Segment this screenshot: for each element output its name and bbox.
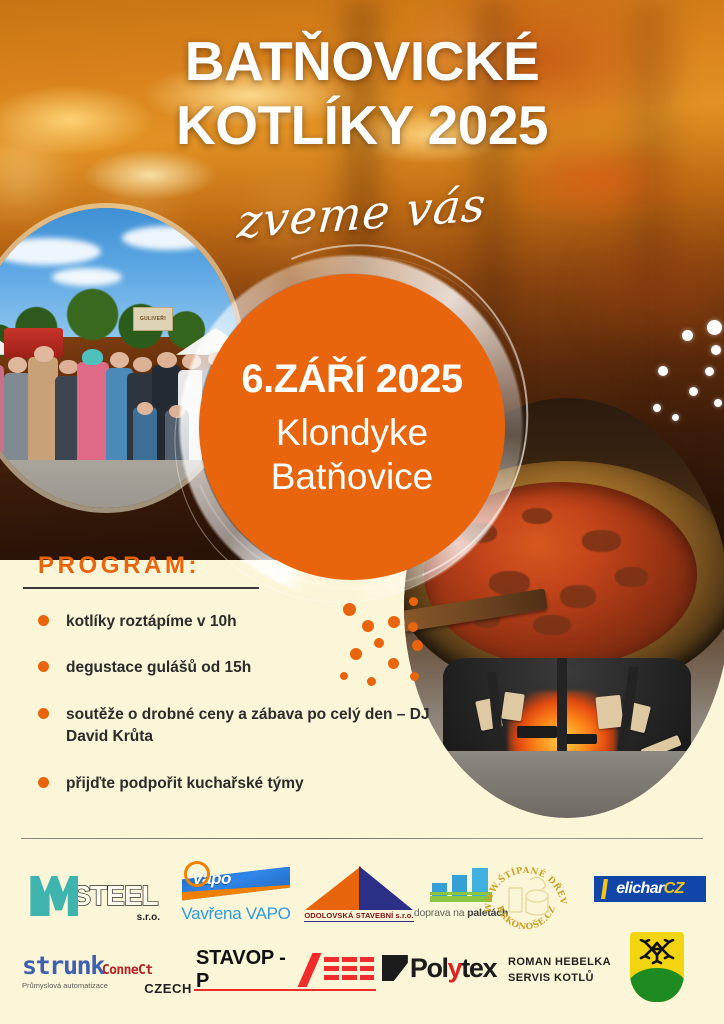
- event-date: 6.ZÁŘÍ 2025: [241, 359, 462, 399]
- nm-steel-wordmark: STEEL: [72, 880, 157, 912]
- strunk-wordmark-row: strunk ConneCt: [22, 951, 153, 980]
- sponsor-logo-melichar-cz: elicharCZ: [592, 874, 708, 904]
- sponsor-logo-polytex: Polytex: [372, 948, 506, 988]
- sponsor-logo-vapo: Vapo Vavřena VAPO: [176, 864, 296, 926]
- decorative-dot-icon: [711, 345, 721, 355]
- sponsor-logo-strunk-connect: strunk ConneCt Průmyslová automatizace C…: [22, 944, 192, 1002]
- polytex-wordmark: Polytex: [410, 953, 496, 984]
- photo-cloud: [0, 238, 101, 265]
- drevo-arc-text-icon: WWW.ŠTÍPANÉ DŘEVO KRKONOŠE.CZ: [482, 858, 570, 946]
- vapo-ring-icon: [184, 861, 210, 887]
- program-item-text: kotlíky roztápíme v 10h: [66, 613, 237, 630]
- program-item-text: přijďte podpořit kuchařské týmy: [66, 775, 304, 792]
- odolovska-triangle-orange: [305, 866, 361, 910]
- decorative-dot-icon: [705, 367, 714, 376]
- decorative-dot-icon: [658, 366, 668, 376]
- stavop-wordmark: STAVOP - P: [196, 947, 294, 993]
- date-badge: 6.ZÁŘÍ 2025 Klondyke Batňovice: [199, 274, 505, 580]
- sponsors-divider: [21, 838, 703, 839]
- hebelka-line-2: SERVIS KOTLŮ: [508, 970, 594, 987]
- crest-green-mound: [630, 968, 684, 1002]
- svg-text:WWW.ŠTÍPANÉ DŘEVO: WWW.ŠTÍPANÉ DŘEVO: [482, 858, 568, 914]
- decorative-dot-icon: [689, 387, 698, 396]
- drevo-circular-badge-icon: WWW.ŠTÍPANÉ DŘEVO KRKONOŠE.CZ: [482, 858, 570, 946]
- bullet-icon: [38, 661, 49, 672]
- program-list: kotlíky roztápíme v 10h degustace gulášů…: [38, 611, 438, 795]
- page-title: BATŇOVICKÉ KOTLÍKY 2025: [0, 34, 724, 153]
- strunk-subline: Průmyslová automatizace CZECH: [22, 981, 192, 996]
- sponsor-logo-stavop-p: STAVOP - P: [196, 948, 368, 992]
- polytex-mark-icon: [382, 955, 408, 981]
- program-item-text: degustace gulášů od 15h: [66, 659, 251, 676]
- crest-antler-icon: [639, 939, 675, 965]
- sponsor-logo-batnovice-coat-of-arms: [628, 930, 686, 1004]
- venue-line-2: Batňovice: [271, 455, 434, 499]
- strunk-connect-wordmark: ConneCt: [102, 963, 153, 978]
- title-line-2: KOTLÍKY 2025: [0, 98, 724, 152]
- stavop-slash-icon: [298, 953, 322, 987]
- stavop-baseline: [194, 989, 376, 991]
- sponsor-logo-nm-steel: STEEL s.r.o.: [24, 870, 164, 922]
- odolovska-caption: ODOLOVSKÁ STAVEBNÍ s.r.o.: [304, 911, 413, 922]
- strunk-wordmark: strunk: [22, 951, 104, 980]
- photo-cloud: [122, 226, 213, 250]
- bullet-icon: [38, 615, 49, 626]
- hebelka-line-1: ROMAN HEBELKA: [508, 954, 611, 971]
- strunk-czech-label: CZECH: [144, 981, 192, 996]
- program-item: soutěže o drobné ceny a zábava po celý d…: [38, 704, 438, 749]
- program-section: PROGRAM: kotlíky roztápíme v 10h degusta…: [0, 552, 724, 819]
- decorative-dot-icon: [672, 414, 679, 421]
- melichar-badge-icon: elicharCZ: [594, 876, 706, 902]
- poster-canvas: BATŇOVICKÉ KOTLÍKY 2025 zveme vás GULIVE…: [0, 0, 724, 1024]
- program-item: degustace gulášů od 15h: [38, 657, 438, 679]
- venue-line-1: Klondyke: [276, 411, 428, 455]
- program-item: kotlíky roztápíme v 10h: [38, 611, 438, 633]
- bullet-icon: [38, 708, 49, 719]
- decorative-dot-icon: [682, 330, 693, 341]
- decorative-dot-icon: [707, 320, 722, 335]
- melichar-wordmark: elicharCZ: [616, 880, 684, 898]
- title-line-1: BATŇOVICKÉ: [0, 34, 724, 88]
- sponsor-logo-stipane-drevo-krkonose: WWW.ŠTÍPANÉ DŘEVO KRKONOŠE.CZ: [480, 856, 572, 948]
- nm-steel-sro-label: s.r.o.: [137, 912, 160, 923]
- stavop-bricks-icon: [298, 953, 368, 987]
- odolovska-triangles-icon: [305, 866, 413, 910]
- strunk-tagline: Průmyslová automatizace: [22, 981, 108, 996]
- bullet-icon: [38, 777, 49, 788]
- sponsor-logo-roman-hebelka: ROMAN HEBELKA SERVIS KOTLŮ: [508, 950, 638, 990]
- nm-steel-mark-icon: [30, 876, 78, 916]
- crest-shield-icon: [630, 932, 684, 1002]
- decorative-dot-icon: [714, 399, 722, 407]
- melichar-slash-icon: [601, 879, 608, 899]
- decorative-dot-icon: [653, 404, 661, 412]
- program-underline: [23, 587, 259, 589]
- program-item-text: soutěže o drobné ceny a zábava po celý d…: [66, 706, 430, 745]
- photo-team-sign-text: GULIVEŘI: [140, 316, 166, 322]
- vapo-caption: Vavřena VAPO: [181, 904, 290, 924]
- sponsors-section: STEEL s.r.o. Vapo Vavřena VAPO ODOLOVSKÁ…: [0, 852, 724, 1024]
- program-item: přijďte podpořit kuchařské týmy: [38, 773, 438, 795]
- sponsor-logo-odolovska-stavebni: ODOLOVSKÁ STAVEBNÍ s.r.o.: [300, 862, 418, 926]
